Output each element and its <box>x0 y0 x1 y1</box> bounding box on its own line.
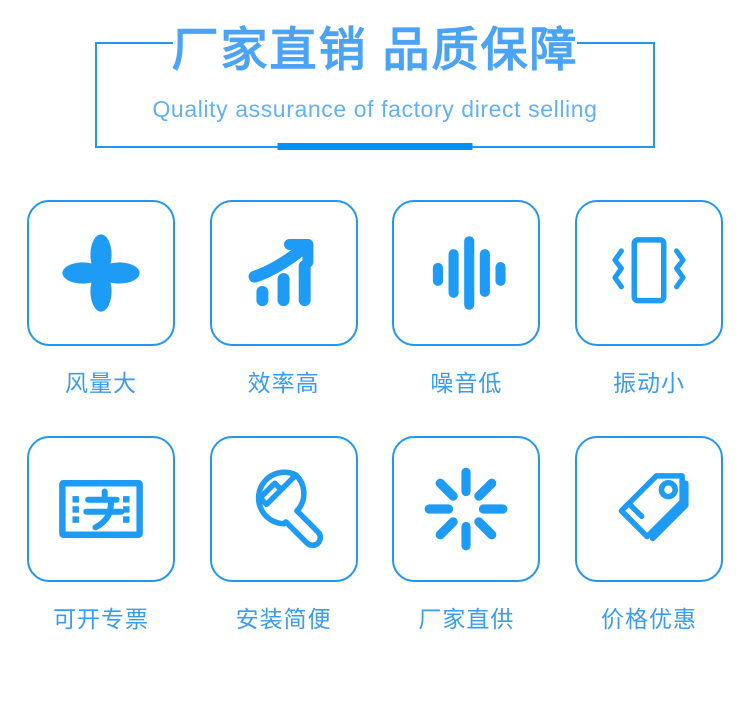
feature-card[interactable] <box>575 436 723 582</box>
feature-card[interactable] <box>392 200 540 346</box>
frame-accent-bar <box>278 143 473 150</box>
feature-cell-price[interactable]: 价格优惠 <box>573 436 725 634</box>
feature-grid: 风量大 效率高 <box>0 200 750 634</box>
feature-cell-direct-supply[interactable]: 厂家直供 <box>390 436 542 634</box>
page-header: 厂家直销 品质保障 Quality assurance of factory d… <box>0 0 750 185</box>
growth-chart-icon <box>238 227 330 319</box>
feature-card[interactable] <box>210 436 358 582</box>
sound-wave-icon <box>420 227 512 319</box>
sunburst-icon <box>420 463 512 555</box>
price-tag-icon <box>603 463 695 555</box>
frame-border-bottom-left <box>95 146 280 148</box>
feature-card[interactable] <box>575 200 723 346</box>
feature-cell-airflow[interactable]: 风量大 <box>25 200 177 398</box>
page-subtitle: Quality assurance of factory direct sell… <box>0 94 750 124</box>
feature-row-1: 风量大 效率高 <box>0 200 750 398</box>
feature-card[interactable] <box>210 200 358 346</box>
feature-card[interactable] <box>392 436 540 582</box>
feature-label: 价格优惠 <box>601 604 697 634</box>
wrench-icon <box>238 463 330 555</box>
feature-cell-vibration[interactable]: 振动小 <box>573 200 725 398</box>
feature-label: 安装简便 <box>236 604 332 634</box>
feature-cell-noise[interactable]: 噪音低 <box>390 200 542 398</box>
page-title: 厂家直销 品质保障 <box>0 22 750 78</box>
frame-border-bottom-right <box>470 146 655 148</box>
feature-label: 效率高 <box>248 368 320 398</box>
feature-label: 可开专票 <box>53 604 149 634</box>
feature-label: 噪音低 <box>430 368 502 398</box>
feature-cell-invoice[interactable]: 可开专票 <box>25 436 177 634</box>
feature-label: 振动小 <box>613 368 685 398</box>
feature-card[interactable] <box>27 200 175 346</box>
fan-blade-icon <box>55 227 147 319</box>
feature-row-2: 可开专票 安装简便 <box>0 436 750 634</box>
feature-cell-installation[interactable]: 安装简便 <box>208 436 360 634</box>
invoice-ticket-icon <box>55 463 147 555</box>
feature-label: 厂家直供 <box>418 604 514 634</box>
feature-card[interactable] <box>27 436 175 582</box>
feature-label: 风量大 <box>65 368 137 398</box>
feature-cell-efficiency[interactable]: 效率高 <box>208 200 360 398</box>
vibration-icon <box>603 227 695 319</box>
